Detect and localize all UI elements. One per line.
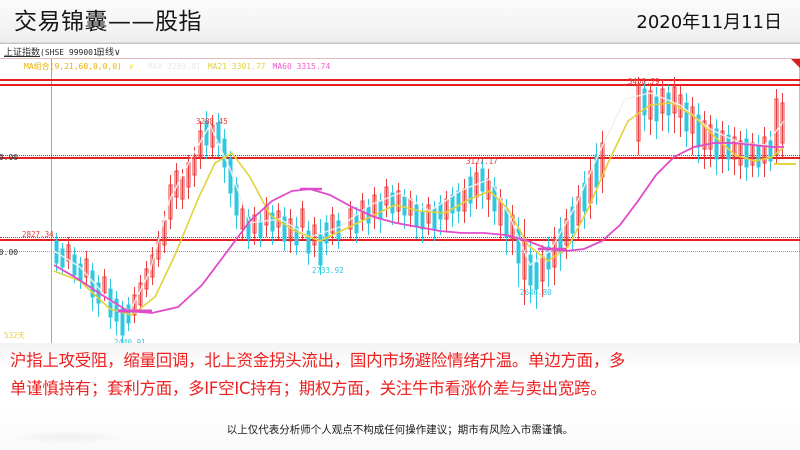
slide-root: 交易锦囊——股指 2020年11月11日 上证指数(SHSE 999001) 日… bbox=[0, 0, 800, 450]
chart-container: 上证指数(SHSE 999001) 日线∨ MA组合(9,21,60,0,0,0… bbox=[0, 45, 800, 345]
chart-period-label: 日线 bbox=[96, 48, 114, 58]
chart-plot-area[interactable]: 00.00 00.00 bbox=[0, 59, 800, 345]
chart-symbol-name: 上证指数 bbox=[4, 48, 40, 58]
annotation-3127: 3127.17 bbox=[466, 157, 498, 166]
commentary-block: 沪指上攻受阻，缩量回调，北上资金拐头流出，国内市场避险情绪升温。单边方面，多 单… bbox=[0, 343, 800, 405]
slide-header: 交易锦囊——股指 2020年11月11日 bbox=[0, 0, 800, 44]
collapse-arrow-icon[interactable] bbox=[791, 59, 800, 68]
annotation-days: 532天 bbox=[4, 330, 25, 341]
price-series bbox=[0, 59, 800, 345]
annotation-2733: 2733.92 bbox=[312, 266, 344, 275]
ma21-legend-swatch bbox=[774, 163, 796, 165]
commentary-line-2: 单谨慎持有；套利方面，多IF空IC持有；期权方面，关注牛市看涨价差与卖出宽跨。 bbox=[10, 375, 790, 403]
chart-symbol-code: (SHSE 999001) bbox=[40, 48, 103, 57]
annotation-2646: 2646.80 bbox=[520, 288, 552, 297]
disclaimer-block: 以上仅代表分析师个人观点不构成任何操作建议；期市有风险入市需谨慎。 bbox=[0, 420, 800, 450]
header-date: 2020年11月11日 bbox=[636, 10, 782, 36]
disclaimer-text: 以上仅代表分析师个人观点不构成任何操作建议；期市有风险入市需谨慎。 bbox=[227, 424, 574, 436]
chart-symbol[interactable]: 上证指数(SHSE 999001) bbox=[4, 45, 103, 58]
annotation-2827: 2827.34 bbox=[22, 230, 54, 239]
commentary-line-1: 沪指上攻受阻，缩量回调，北上资金拐头流出，国内市场避险情绪升温。单边方面，多 bbox=[10, 347, 790, 375]
chevron-down-icon: ∨ bbox=[114, 48, 121, 58]
page-title: 交易锦囊——股指 bbox=[14, 7, 202, 37]
chart-toolbar: 上证指数(SHSE 999001) 日线∨ bbox=[0, 45, 800, 59]
chart-period-selector[interactable]: 日线∨ bbox=[96, 45, 121, 58]
annotation-3458: 3458.79 bbox=[628, 77, 660, 86]
annotation-3288: 3288.45 bbox=[196, 117, 228, 126]
